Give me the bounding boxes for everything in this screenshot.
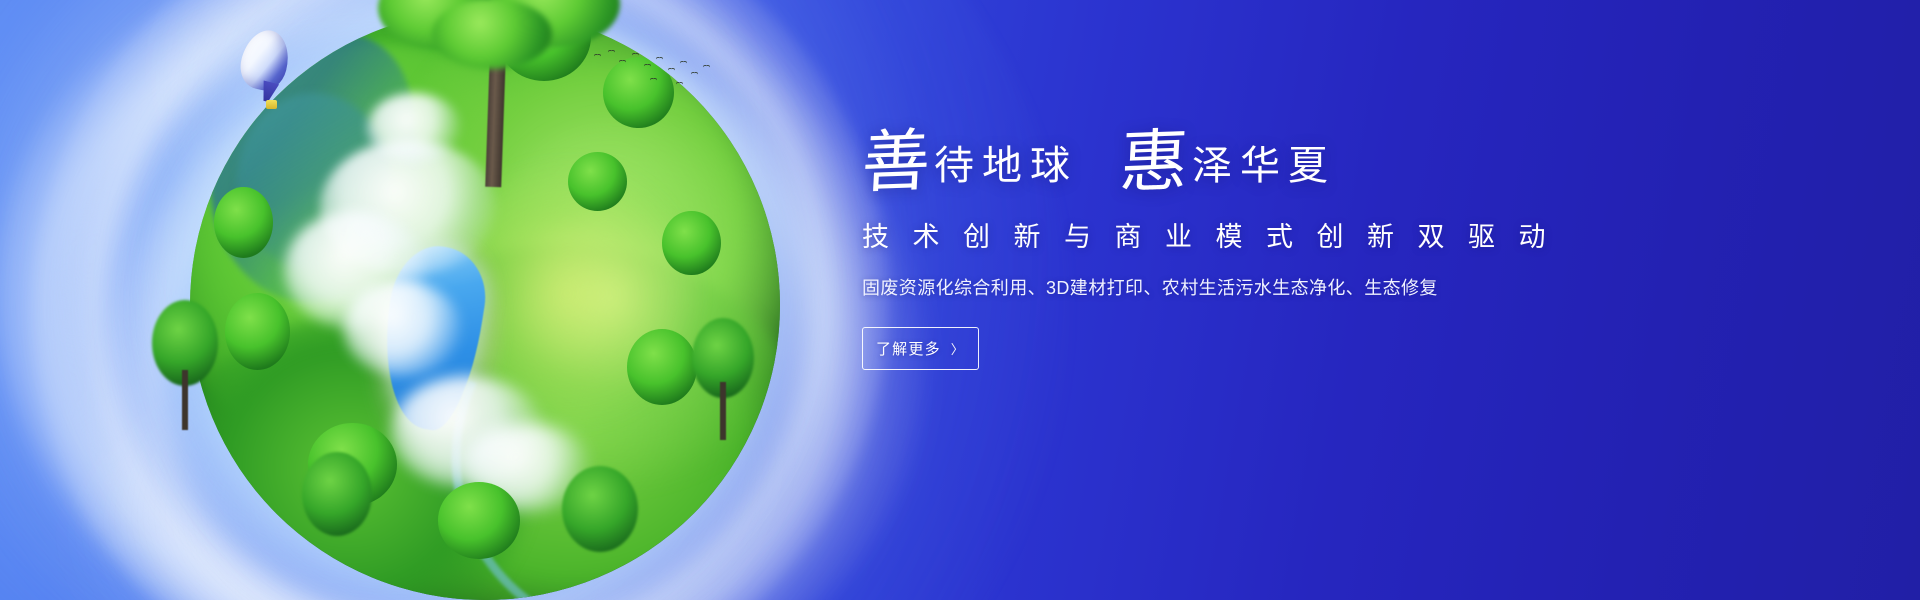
bird-icon bbox=[619, 60, 626, 64]
bird-icon bbox=[644, 64, 651, 68]
headline: 善 待地球 惠 泽华夏 bbox=[862, 130, 1762, 195]
bird-icon bbox=[668, 68, 675, 72]
edge-tree-icon bbox=[690, 318, 756, 448]
tree-canopy-icon bbox=[438, 482, 521, 559]
bird-icon bbox=[703, 65, 710, 69]
tree-canopy-icon bbox=[562, 466, 638, 552]
tree-canopy-icon bbox=[432, 0, 552, 69]
subtitle: 技 术 创 新 与 商 业 模 式 创 新 双 驱 动 bbox=[862, 221, 1762, 255]
edge-tree-icon bbox=[150, 300, 220, 440]
balloon-basket bbox=[266, 100, 277, 109]
learn-more-button[interactable]: 了解更多 〉 bbox=[862, 327, 979, 370]
hot-air-balloon-icon bbox=[236, 30, 292, 118]
bird-icon bbox=[594, 54, 601, 58]
bird-icon bbox=[608, 50, 615, 54]
banner-content: 善 待地球 惠 泽华夏 技 术 创 新 与 商 业 模 式 创 新 双 驱 动 … bbox=[862, 130, 1762, 370]
bird-icon bbox=[632, 53, 639, 57]
bird-icon bbox=[656, 57, 663, 61]
headline-accent-2: 惠 bbox=[1118, 129, 1190, 197]
edge-tree-icon bbox=[560, 466, 640, 586]
description: 固废资源化综合利用、3D建材打印、农村生活污水生态净化、生态修复 bbox=[862, 277, 1762, 300]
tree-trunk bbox=[720, 382, 726, 440]
chevron-right-icon: 〉 bbox=[951, 339, 965, 358]
headline-rest-1: 待地球 bbox=[934, 146, 1078, 195]
bird-icon bbox=[650, 78, 657, 82]
tree-canopy-icon bbox=[662, 211, 721, 276]
bird-icon bbox=[676, 82, 683, 86]
tree-canopy-icon bbox=[302, 452, 372, 536]
tree-icon bbox=[370, 0, 630, 205]
headline-accent-1: 善 bbox=[860, 129, 932, 197]
cloud-icon bbox=[343, 281, 461, 375]
tree-trunk bbox=[182, 370, 188, 430]
bird-icon bbox=[680, 61, 687, 65]
tree-canopy-icon bbox=[627, 329, 698, 406]
tree-canopy-icon bbox=[225, 293, 290, 370]
bird-icon bbox=[691, 72, 698, 76]
edge-tree-icon bbox=[300, 452, 374, 572]
birds-icon bbox=[590, 48, 720, 94]
hero-banner: 善 待地球 惠 泽华夏 技 术 创 新 与 商 业 模 式 创 新 双 驱 动 … bbox=[0, 0, 1920, 600]
learn-more-label: 了解更多 bbox=[876, 338, 941, 359]
headline-rest-2: 泽华夏 bbox=[1192, 146, 1336, 195]
tree-canopy-icon bbox=[214, 187, 273, 258]
